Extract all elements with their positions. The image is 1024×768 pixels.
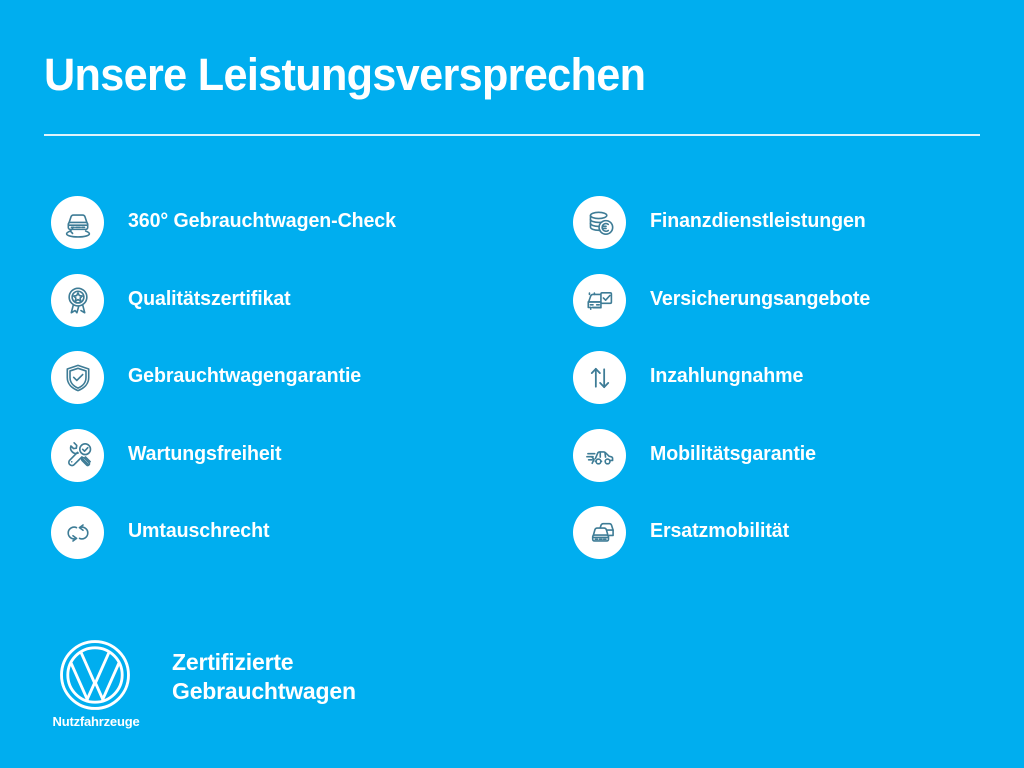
wrench-check-icon: [51, 429, 104, 482]
feature-item[interactable]: Ersatzmobilität: [573, 506, 1013, 584]
feature-item[interactable]: Gebrauchtwagengarantie: [51, 351, 521, 429]
brand-claim-line-2: Gebrauchtwagen: [172, 677, 356, 706]
feature-item[interactable]: Mobilitätsgarantie: [573, 429, 1013, 507]
feature-item[interactable]: Umtauschrecht: [51, 506, 521, 584]
features-right-column: Finanzdienstleistungen: [573, 196, 1013, 584]
slide-canvas: Unsere Leistungsversprechen: [0, 0, 1024, 768]
car-speed-lines-icon: [573, 429, 626, 482]
coins-euro-icon: [573, 196, 626, 249]
feature-label: Mobilitätsgarantie: [650, 443, 816, 466]
car-insurance-document-icon: [573, 274, 626, 327]
feature-label: Inzahlungnahme: [650, 365, 803, 388]
branding-block: Nutzfahrzeuge Zertifizierte Gebrauchtwag…: [44, 638, 464, 738]
feature-label: Gebrauchtwagengarantie: [128, 365, 361, 388]
feature-label: Qualitätszertifikat: [128, 288, 291, 311]
feature-item[interactable]: Inzahlungnahme: [573, 351, 1013, 429]
page-title: Unsere Leistungsversprechen: [44, 50, 645, 100]
award-rosette-icon: [51, 274, 104, 327]
feature-item[interactable]: Qualitätszertifikat: [51, 274, 521, 352]
arrows-up-down-icon: [573, 351, 626, 404]
features-left-column: 360° Gebrauchtwagen-Check Qualitätszerti…: [51, 196, 521, 584]
feature-label: Wartungsfreiheit: [128, 443, 281, 466]
two-cars-icon: [573, 506, 626, 559]
volkswagen-logo-icon: [58, 638, 132, 712]
feature-label: Ersatzmobilität: [650, 520, 789, 543]
feature-label: Umtauschrecht: [128, 520, 269, 543]
feature-item[interactable]: Versicherungsangebote: [573, 274, 1013, 352]
brand-sublabel: Nutzfahrzeuge: [44, 714, 148, 729]
feature-item[interactable]: Finanzdienstleistungen: [573, 196, 1013, 274]
brand-claim-line-1: Zertifizierte: [172, 648, 356, 677]
feature-item[interactable]: Wartungsfreiheit: [51, 429, 521, 507]
exchange-arrows-icon: [51, 506, 104, 559]
feature-label: Finanzdienstleistungen: [650, 210, 866, 233]
feature-label: Versicherungsangebote: [650, 288, 870, 311]
car-360-check-icon: [51, 196, 104, 249]
feature-label: 360° Gebrauchtwagen-Check: [128, 210, 396, 233]
shield-check-icon: [51, 351, 104, 404]
feature-item[interactable]: 360° Gebrauchtwagen-Check: [51, 196, 521, 274]
header-divider: [44, 134, 980, 136]
brand-claim: Zertifizierte Gebrauchtwagen: [172, 648, 356, 707]
